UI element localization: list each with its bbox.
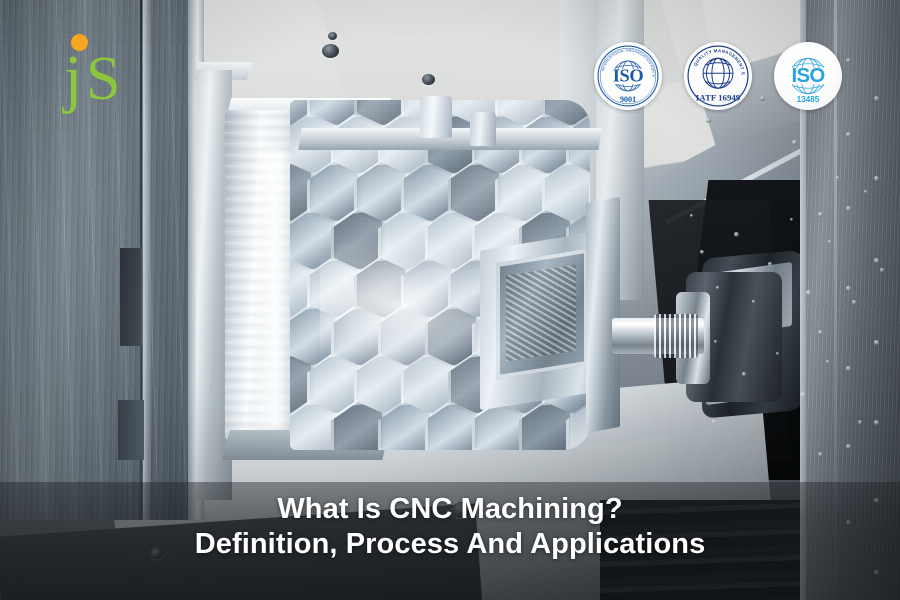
badge-iatf-16949: IATF 16949 QUALITY MANAGEMENT SYSTEM (684, 42, 752, 110)
title-line-2: Definition, Process And Applications (0, 527, 900, 562)
svg-text:ISO: ISO (791, 65, 824, 87)
svg-text:9001: 9001 (620, 95, 636, 104)
banner-title: What Is CNC Machining? Definition, Proce… (0, 492, 900, 562)
certification-badge-row: ISO 9001 INTERNATIONAL ORGANIZATION FOR … (594, 42, 842, 110)
logo-letter-j: j (64, 46, 82, 112)
svg-text:ISO: ISO (613, 65, 644, 85)
svg-text:13485: 13485 (797, 95, 820, 104)
cnc-machining-banner: j S ISO 9001 INTER (0, 0, 900, 600)
js-logo[interactable]: j S (58, 30, 128, 108)
svg-text:IATF 16949: IATF 16949 (696, 92, 741, 102)
logo-letter-s: S (86, 48, 120, 110)
badge-iso-13485: ISO 13485 (774, 42, 842, 110)
badge-iso-9001: ISO 9001 INTERNATIONAL ORGANIZATION FOR … (594, 42, 662, 110)
title-line-1: What Is CNC Machining? (0, 492, 900, 527)
